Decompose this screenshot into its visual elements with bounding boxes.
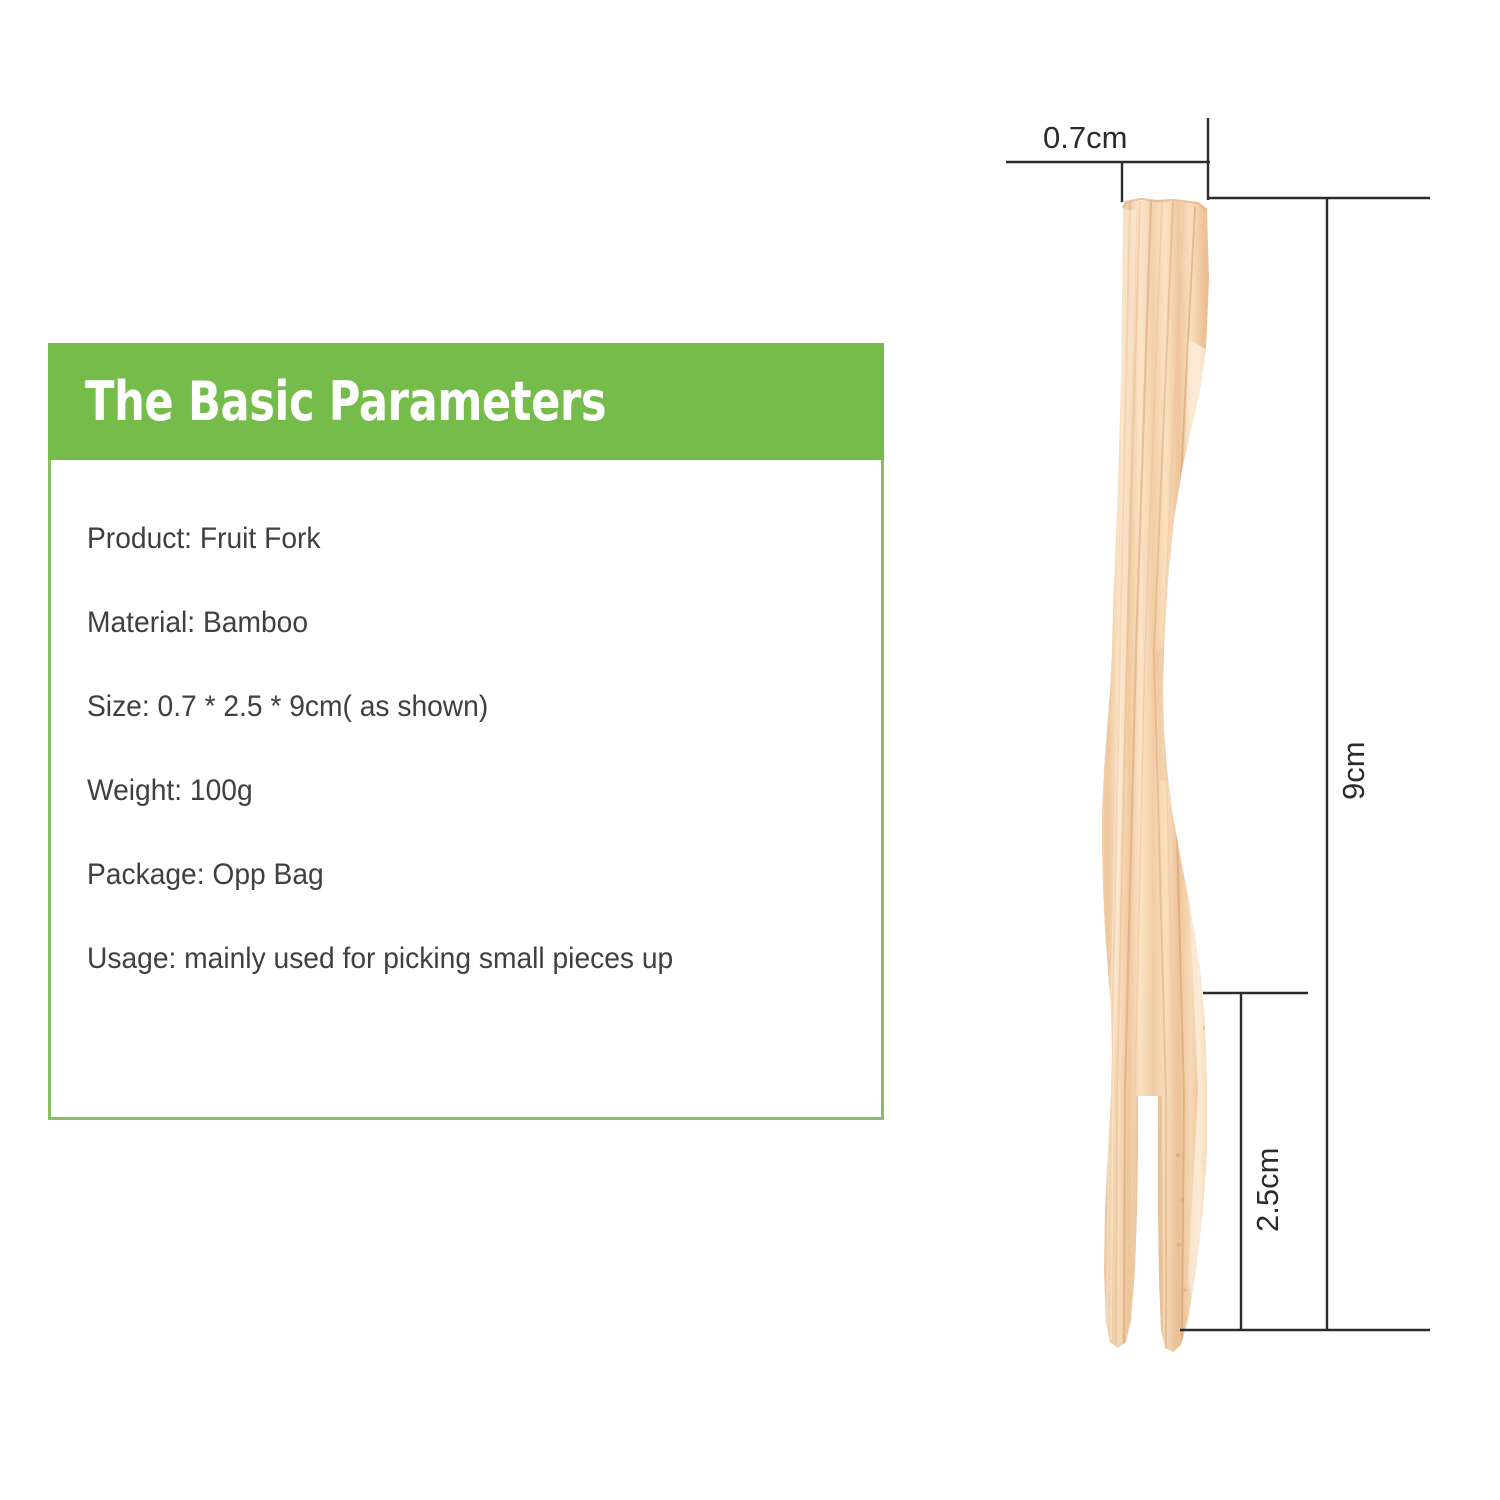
dimension-label-height: 9cm: [1338, 741, 1369, 800]
dimension-callouts: [1006, 118, 1430, 1330]
page-title: The Basic Parameters: [85, 374, 606, 430]
card-body: Product: Fruit Fork Material: Bamboo Siz…: [48, 460, 884, 1120]
dimension-label-width: 0.7cm: [1043, 122, 1127, 153]
spec-line-material: Material: Bamboo: [87, 606, 833, 640]
spec-line-package: Package: Opp Bag: [87, 858, 833, 892]
spec-line-product: Product: Fruit Fork: [87, 522, 833, 556]
product-spec-page: The Basic Parameters Product: Fruit Fork…: [0, 0, 1500, 1500]
bamboo-fork-image: [1090, 190, 1230, 1370]
card-header: The Basic Parameters: [48, 343, 884, 460]
dimension-label-tines: 2.5cm: [1252, 1148, 1283, 1232]
basic-parameters-card: The Basic Parameters Product: Fruit Fork…: [48, 343, 884, 1120]
spec-line-weight: Weight: 100g: [87, 774, 833, 808]
spec-line-usage: Usage: mainly used for picking small pie…: [87, 942, 833, 976]
product-illustration: [960, 90, 1430, 1380]
spec-line-size: Size: 0.7 * 2.5 * 9cm( as shown): [87, 690, 833, 724]
